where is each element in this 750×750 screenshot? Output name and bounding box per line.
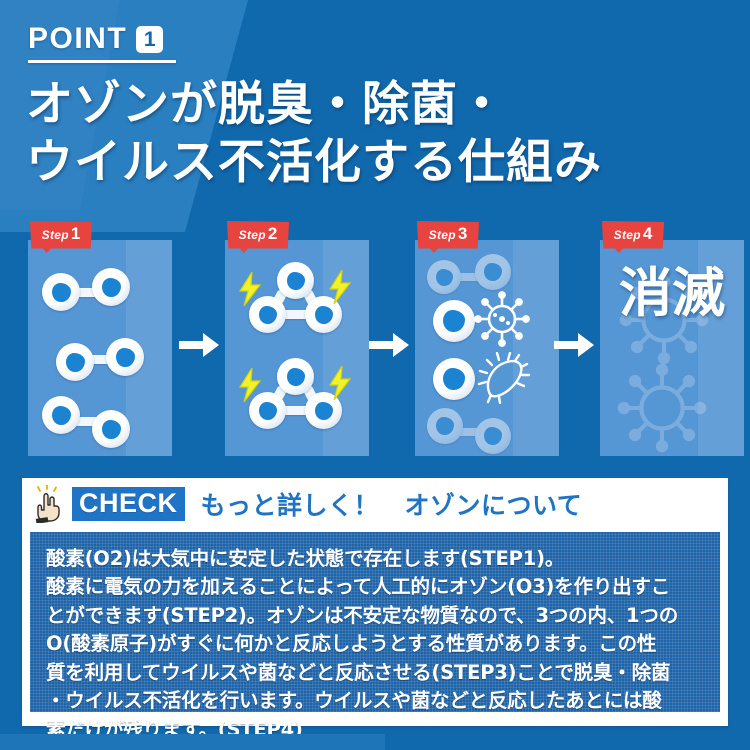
step-badge-word: Step [42,228,69,242]
oxygen-atom [433,300,475,342]
step-badge-word: Step [429,228,456,242]
steps-diagram: Step 1 [0,228,750,468]
step-badge-number: 2 [268,224,277,244]
step-panel-3: Step 3 [415,240,559,456]
bottom-strip [0,734,750,750]
step-badge-word: Step [239,228,266,242]
check-body-text: 酸素(O2)は大気中に安定した状態で存在します(STEP1)。 酸素に電気の力を… [46,545,704,744]
check-header: CHECK もっと詳しく！ オゾンについて [22,478,728,530]
step-badge-number: 4 [643,224,652,244]
ghost-virus-icon [616,362,708,459]
step-panel-4: Step 4 [600,240,744,456]
check-body: 酸素(O2)は大気中に安定した状態で存在します(STEP1)。 酸素に電気の力を… [30,532,720,712]
arrow-icon [179,332,219,358]
step-badge-1: Step 1 [30,221,92,253]
step-badge-2: Step 2 [227,221,289,253]
check-label: CHECK [72,487,185,521]
page-title-line2: ウイルス不活化する仕組み [26,135,602,190]
step-badge-number: 1 [71,224,80,244]
step-badge-number: 3 [458,224,467,244]
panel-sheen [513,240,559,456]
step-badge-4: Step 4 [602,221,664,253]
infographic-stage: POINT 1 オゾンが脱臭・除菌・ ウイルス不活化する仕組み Step 1 [0,0,750,750]
page-title: オゾンが脱臭・除菌・ ウイルス不活化する仕組み [26,76,602,192]
point-number-badge: 1 [136,26,163,53]
point-header: POINT 1 [28,24,163,54]
eliminated-label: 消滅 [600,264,744,323]
pointing-hand-icon [30,485,66,523]
bacteria-icon [477,352,531,404]
check-callout: CHECK もっと詳しく！ オゾンについて 酸素(O2)は大気中に安定した状態で… [22,478,728,726]
step-badge-word: Step [614,228,641,242]
virus-icon [473,290,531,348]
point-label: POINT [28,24,127,54]
bottom-strip-light [0,734,385,750]
arrow-icon [554,332,594,358]
oxygen-atom [433,358,475,400]
step-panel-1: Step 1 [28,240,172,456]
step-badge-3: Step 3 [417,221,479,253]
check-subtitle: もっと詳しく！ オゾンについて [201,486,583,522]
arrow-icon [369,332,409,358]
page-title-line1: オゾンが脱臭・除菌・ [26,77,506,132]
point-underline [28,60,176,63]
step-panel-2: Step 2 [225,240,369,456]
